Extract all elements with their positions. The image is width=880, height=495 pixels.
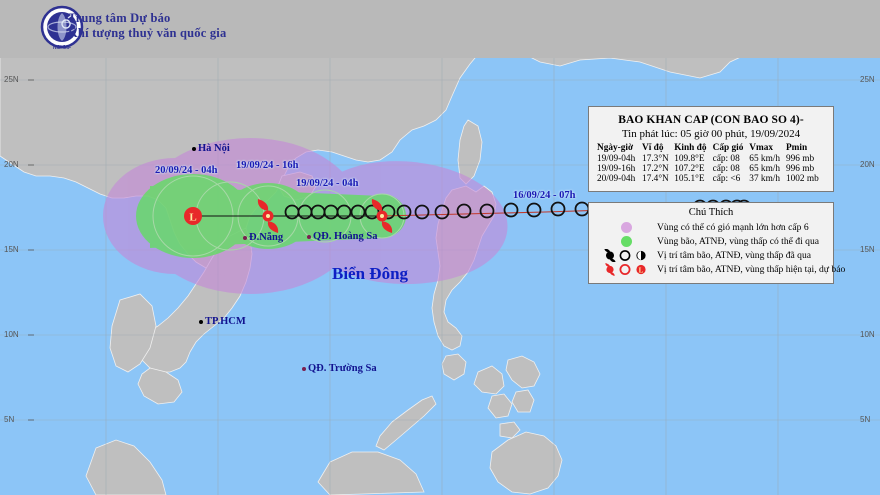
legend-panel: Chú Thích Vùng có thể có gió mạnh lớn hơ… xyxy=(588,202,834,284)
city-label-1: Đ.Nẵng xyxy=(243,232,283,243)
forecast-table-body: 19/09-04h17.3°N109.8°Ecấp: 0865 km/h996 … xyxy=(597,154,825,184)
forecast-col-1: Vĩ độ xyxy=(642,143,674,154)
header-band: NCHMF Trung tâm Dự báo Khí tượng thuỷ vă… xyxy=(0,0,880,58)
track-date-label-0: 20/09/24 - 04h xyxy=(155,165,217,176)
track-date-label-3: 16/09/24 - 07h xyxy=(513,190,575,201)
forecast-cell-1-5: 996 mb xyxy=(786,164,825,174)
forecast-cell-0-5: 996 mb xyxy=(786,154,825,164)
legend-item-0: Vùng có thể có gió mạnh lớn hơn cấp 6 xyxy=(595,221,827,234)
color-swatch xyxy=(621,222,632,233)
legend-item-label: Vị trí tâm bão, ATNĐ, vùng thấp đã qua xyxy=(657,250,811,261)
forecast-cell-1-3: cấp: 08 xyxy=(713,164,750,174)
forecast-cell-0-0: 19/09-04h xyxy=(597,154,642,164)
weather-map-screenshot: L xyxy=(0,0,880,495)
city-name: QĐ. Hoàng Sa xyxy=(313,231,377,242)
city-label-2: TP.HCM xyxy=(199,316,246,327)
forecast-cell-1-0: 19/09-16h xyxy=(597,164,642,174)
forecast-cell-0-4: 65 km/h xyxy=(749,154,786,164)
city-name: TP.HCM xyxy=(205,316,246,327)
forecast-row: 19/09-04h17.3°N109.8°Ecấp: 0865 km/h996 … xyxy=(597,154,825,164)
city-marker-dot-icon xyxy=(192,147,196,151)
lat-label-right-15N: 15N xyxy=(860,245,875,254)
lat-label-right-5N: 5N xyxy=(860,415,870,424)
org-name-line2: Khí tượng thuỷ văn quốc gia xyxy=(68,26,226,41)
lat-label-right-25N: 25N xyxy=(860,75,875,84)
storm-bulletin-title: BAO KHAN CAP (CON BAO SO 4)- xyxy=(597,114,825,126)
legend-item-2: Vị trí tâm bão, ATNĐ, vùng thấp đã qua xyxy=(595,249,827,262)
forecast-col-2: Kinh độ xyxy=(674,143,712,154)
forecast-cell-1-1: 17.2°N xyxy=(642,164,674,174)
forecast-cell-2-2: 105.1°E xyxy=(674,174,712,184)
city-marker-dot-icon xyxy=(199,320,203,324)
lat-label-left-5N: 5N xyxy=(4,415,14,424)
lat-label-left-15N: 15N xyxy=(4,245,19,254)
storm-symbol-low-20-09: L xyxy=(184,207,202,225)
forecast-col-3: Cấp gió xyxy=(713,143,750,154)
forecast-table-header: Ngày-giờVĩ độKinh độCấp gióVmaxPmin xyxy=(597,143,825,154)
legend-item-label: Vùng có thể có gió mạnh lớn hơn cấp 6 xyxy=(657,222,809,233)
track-date-label-2: 19/09/24 - 04h xyxy=(296,178,358,189)
legend-item-label: Vị trí tâm bão, ATNĐ, vùng thấp hiện tại… xyxy=(657,264,845,275)
lat-label-right-20N: 20N xyxy=(860,160,875,169)
legend-swatch-icon-1 xyxy=(595,235,657,248)
lat-label-left-10N: 10N xyxy=(4,330,19,339)
sea-label-bien-dong: Biển Đông xyxy=(332,264,408,284)
forecast-col-5: Pmin xyxy=(786,143,825,154)
forecast-table: Ngày-giờVĩ độKinh độCấp gióVmaxPmin 19/0… xyxy=(597,143,825,184)
forecast-cell-2-5: 1002 mb xyxy=(786,174,825,184)
forecast-col-0: Ngày-giờ xyxy=(597,143,642,154)
legend-past-storm-symbols-icon xyxy=(595,249,657,262)
city-label-4: QĐ. Trường Sa xyxy=(302,363,377,374)
org-name-line1: Trung tâm Dự báo xyxy=(68,11,226,26)
forecast-row: 20/09-04h17.4°N105.1°Ecấp: <637 km/h1002… xyxy=(597,174,825,184)
legend-rows: Vùng có thể có gió mạnh lớn hơn cấp 6Vùn… xyxy=(595,221,827,276)
city-name: Đ.Nẵng xyxy=(249,232,283,243)
storm-bulletin-issued-time: Tin phát lúc: 05 giờ 00 phút, 19/09/2024 xyxy=(597,128,825,140)
org-name: Trung tâm Dự báo Khí tượng thuỷ văn quốc… xyxy=(68,11,226,41)
forecast-cell-2-3: cấp: <6 xyxy=(713,174,750,184)
legend-current-storm-symbols-icon: L xyxy=(595,263,657,276)
legend-item-label: Vùng bão, ATNĐ, vùng thấp có thể đi qua xyxy=(657,236,819,247)
forecast-cell-2-1: 17.4°N xyxy=(642,174,674,184)
forecast-cell-2-0: 20/09-04h xyxy=(597,174,642,184)
city-name: Hà Nội xyxy=(198,143,230,154)
forecast-cell-1-2: 107.2°E xyxy=(674,164,712,174)
city-label-0: Hà Nội xyxy=(192,143,230,154)
legend-item-3: LVị trí tâm bão, ATNĐ, vùng thấp hiện tạ… xyxy=(595,263,827,276)
city-label-3: QĐ. Hoàng Sa xyxy=(307,231,377,242)
color-swatch xyxy=(621,236,632,247)
city-marker-dot-icon xyxy=(243,236,247,240)
forecast-cell-2-4: 37 km/h xyxy=(749,174,786,184)
forecast-col-4: Vmax xyxy=(749,143,786,154)
track-date-label-1: 19/09/24 - 16h xyxy=(236,160,298,171)
forecast-row: 19/09-16h17.2°N107.2°Ecấp: 0865 km/h996 … xyxy=(597,164,825,174)
svg-text:NCHMF: NCHMF xyxy=(53,45,71,51)
city-marker-dot-icon xyxy=(307,235,311,239)
lat-label-left-25N: 25N xyxy=(4,75,19,84)
city-marker-dot-icon xyxy=(302,367,306,371)
city-name: QĐ. Trường Sa xyxy=(308,363,377,374)
lat-label-right-10N: 10N xyxy=(860,330,875,339)
forecast-cell-0-1: 17.3°N xyxy=(642,154,674,164)
legend-item-1: Vùng bão, ATNĐ, vùng thấp có thể đi qua xyxy=(595,235,827,248)
lat-label-left-20N: 20N xyxy=(4,160,19,169)
legend-swatch-icon-0 xyxy=(595,221,657,234)
storm-info-panel: BAO KHAN CAP (CON BAO SO 4)- Tin phát lú… xyxy=(588,106,834,192)
legend-title: Chú Thích xyxy=(595,207,827,218)
svg-text:L: L xyxy=(189,212,196,224)
svg-text:L: L xyxy=(639,267,644,275)
forecast-cell-1-4: 65 km/h xyxy=(749,164,786,174)
forecast-cell-0-3: cấp: 08 xyxy=(713,154,750,164)
forecast-cell-0-2: 109.8°E xyxy=(674,154,712,164)
